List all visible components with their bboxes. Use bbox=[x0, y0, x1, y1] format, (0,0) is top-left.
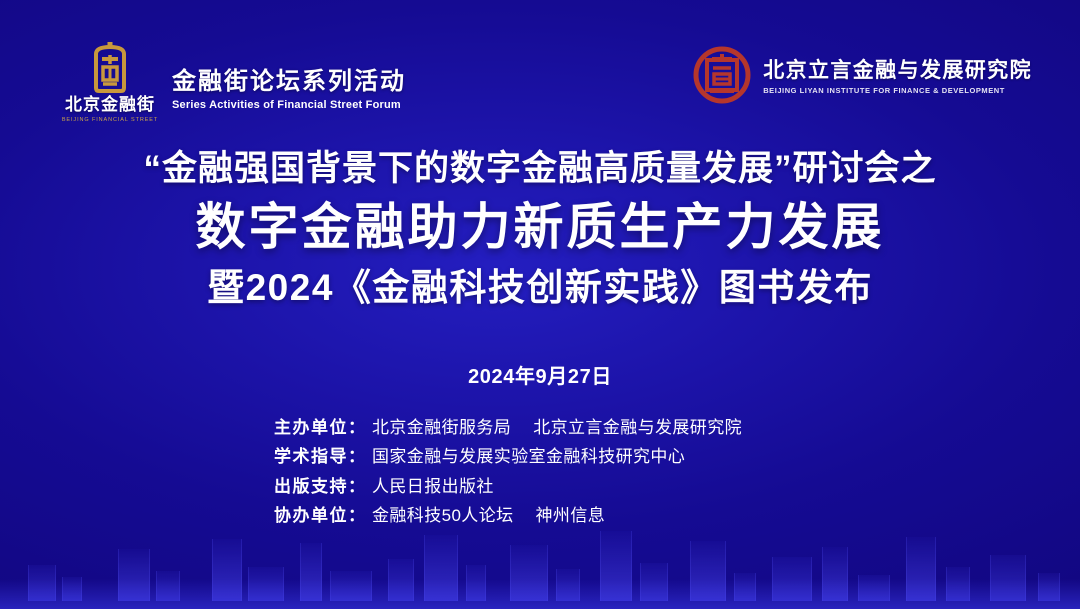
forum-title-cn: 金融街论坛系列活动 bbox=[172, 69, 406, 95]
event-date: 2024年9月27日 bbox=[0, 360, 1080, 389]
skyline-building bbox=[466, 565, 486, 601]
poster-secondary-title: 暨2024《金融科技创新实践》图书发布 bbox=[0, 267, 1080, 310]
skyline-building bbox=[62, 577, 82, 601]
bfs-name-en: BEIJING FINANCIAL STREET bbox=[62, 117, 158, 123]
liyan-name-en: BEIJING LIYAN INSTITUTE FOR FINANCE & DE… bbox=[763, 86, 1032, 95]
skyline-building bbox=[248, 567, 284, 601]
credit-value: 北京金融街服务局 bbox=[372, 417, 511, 438]
bfs-name-cn: 北京金融街 bbox=[65, 96, 155, 114]
skyline-building bbox=[772, 557, 812, 601]
liyan-text-block: 北京立言金融与发展研究院 BEIJING LIYAN INSTITUTE FOR… bbox=[763, 55, 1032, 94]
skyline-building bbox=[300, 543, 322, 601]
skyline-building bbox=[330, 571, 372, 601]
skyline-building bbox=[690, 541, 726, 601]
skyline-building bbox=[28, 565, 56, 601]
skyline-building bbox=[906, 537, 936, 601]
credit-colon: ： bbox=[348, 417, 365, 438]
skyline-building bbox=[734, 573, 756, 601]
skyline-building bbox=[556, 569, 580, 601]
poster-subtitle-line: “金融强国背景下的数字金融高质量发展”研讨会之 bbox=[0, 148, 1080, 189]
skyline-building bbox=[990, 555, 1026, 601]
credit-colon: ： bbox=[348, 505, 365, 526]
credit-values: 金融科技50人论坛 神州信息 bbox=[372, 505, 605, 526]
skyline-building bbox=[212, 539, 242, 601]
bfs-forum-title: 金融街论坛系列活动 Series Activities of Financial… bbox=[172, 69, 406, 122]
credit-values: 国家金融与发展实验室金融科技研究中心 bbox=[372, 446, 685, 467]
credit-label: 出版支持 bbox=[274, 476, 348, 497]
skyline-building bbox=[640, 563, 668, 601]
skyline-glow bbox=[0, 579, 1080, 609]
credit-values: 人民日报出版社 bbox=[372, 476, 494, 497]
credit-label: 主办单位 bbox=[274, 417, 348, 438]
liyan-round-seal-icon bbox=[693, 46, 751, 104]
city-skyline-decoration bbox=[0, 514, 1080, 609]
event-poster: 北京金融街 BEIJING FINANCIAL STREET 金融街论坛系列活动… bbox=[0, 0, 1080, 609]
beijing-financial-street-seal-icon bbox=[85, 42, 135, 94]
credit-label: 学术指导 bbox=[274, 446, 348, 467]
credit-value: 国家金融与发展实验室金融科技研究中心 bbox=[372, 446, 685, 467]
poster-headings: “金融强国背景下的数字金融高质量发展”研讨会之 数字金融助力新质生产力发展 暨2… bbox=[0, 148, 1080, 310]
credit-colon: ： bbox=[348, 446, 365, 467]
credit-label: 协办单位 bbox=[274, 505, 348, 526]
liyan-institute-logo: 北京立言金融与发展研究院 BEIJING LIYAN INSTITUTE FOR… bbox=[693, 46, 1032, 104]
skyline-building bbox=[388, 559, 414, 601]
skyline-building bbox=[600, 531, 632, 601]
skyline-building bbox=[156, 571, 180, 601]
credit-value: 神州信息 bbox=[536, 505, 606, 526]
skyline-building bbox=[1038, 573, 1060, 601]
skyline-building bbox=[118, 549, 150, 601]
skyline-building bbox=[510, 545, 548, 601]
skyline-building bbox=[822, 547, 848, 601]
credit-row: 出版支持 ： 人民日报出版社 bbox=[274, 476, 806, 497]
poster-main-title: 数字金融助力新质生产力发展 bbox=[0, 198, 1080, 255]
credit-values: 北京金融街服务局 北京立言金融与发展研究院 bbox=[372, 417, 742, 438]
organizer-credits: 主办单位 ： 北京金融街服务局 北京立言金融与发展研究院 学术指导 ： 国家金融… bbox=[0, 417, 1080, 526]
liyan-name-cn: 北京立言金融与发展研究院 bbox=[763, 59, 1032, 82]
skyline-building bbox=[946, 567, 970, 601]
credit-row: 主办单位 ： 北京金融街服务局 北京立言金融与发展研究院 bbox=[274, 417, 806, 438]
credit-colon: ： bbox=[348, 476, 365, 497]
credit-value: 金融科技50人论坛 bbox=[372, 505, 514, 526]
credit-value: 人民日报出版社 bbox=[372, 476, 494, 497]
skyline-building bbox=[424, 535, 458, 601]
forum-title-en: Series Activities of Financial Street Fo… bbox=[172, 99, 406, 111]
credit-row: 协办单位 ： 金融科技50人论坛 神州信息 bbox=[274, 505, 806, 526]
bfs-mark: 北京金融街 BEIJING FINANCIAL STREET bbox=[62, 42, 158, 123]
skyline-building bbox=[858, 575, 890, 601]
beijing-financial-street-logo: 北京金融街 BEIJING FINANCIAL STREET 金融街论坛系列活动… bbox=[62, 42, 406, 123]
credit-value: 北京立言金融与发展研究院 bbox=[533, 417, 742, 438]
credit-row: 学术指导 ： 国家金融与发展实验室金融科技研究中心 bbox=[274, 446, 806, 467]
